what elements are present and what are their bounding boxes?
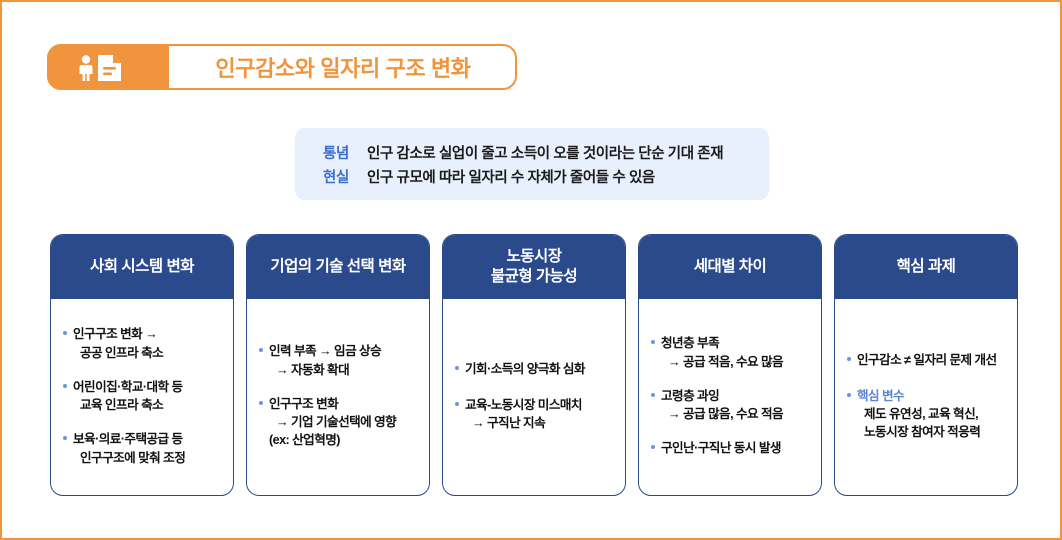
card-title-2-line1: 기업의 기술 선택 변화 [270,257,405,277]
card-corporate-tech-choice-change[interactable]: 기업의 기술 선택 변화 인력 부족 → 임금 상승 → 자동화 확대 인구구조… [246,234,430,496]
bullet-line: 구인난·구직난 동시 발생 [661,439,810,457]
note-row-hyeonsil: 현실 인구 규모에 따라 일자리 수 자체가 줄어들 수 있음 [323,166,769,190]
bullet-item: 인구감소 ≠ 일자리 문제 개선 [846,351,1006,369]
bullet-line: → 공급 많음, 수요 적음 [661,405,810,423]
header: 인구감소와 일자리 구조 변화 [47,44,517,90]
page-title: 인구감소와 일자리 구조 변화 [169,44,517,90]
note-row-tongnyeom: 통념 인구 감소로 실업이 줄고 소득이 오를 것이라는 단순 기대 존재 [323,142,769,166]
card-title-4: 세대별 차이 [639,235,821,299]
card-key-tasks[interactable]: 핵심 과제 인구감소 ≠ 일자리 문제 개선 핵심 변수 제도 유연성, 교육 … [834,234,1018,496]
card-title-3-line1: 노동시장 [491,247,577,267]
card-title-5-line1: 핵심 과제 [897,257,956,277]
card-body-5: 인구감소 ≠ 일자리 문제 개선 핵심 변수 제도 유연성, 교육 혁신, 노동… [835,299,1017,495]
bullet-item: 구인난·구직난 동시 발생 [650,439,810,457]
bullet-item: 기회·소득의 양극화 심화 [454,360,614,378]
bullet-item: 인력 부족 → 임금 상승 → 자동화 확대 [258,342,418,379]
bullet-item: 보육·의료·주택공급 등 인구구조에 맞춰 조정 [62,430,222,467]
bullet-line: 인구구조 변화 [269,395,418,413]
card-title-3-line2: 불균형 가능성 [491,267,577,287]
card-title-2: 기업의 기술 선택 변화 [247,235,429,299]
card-body-2: 인력 부족 → 임금 상승 → 자동화 확대 인구구조 변화 → 기업 기술선택… [247,299,429,495]
bullet-item-key-variable: 핵심 변수 제도 유연성, 교육 혁신, 노동시장 참여자 적응력 [846,387,1006,442]
note-text-hyeonsil: 인구 규모에 따라 일자리 수 자체가 줄어들 수 있음 [367,166,655,187]
card-title-4-line1: 세대별 차이 [694,257,767,277]
note-label-tongnyeom: 통념 [323,142,367,163]
bullet-item: 고령층 과잉 → 공급 많음, 수요 적음 [650,387,810,424]
card-body-4: 청년층 부족 → 공급 적음, 수요 많음 고령층 과잉 → 공급 많음, 수요… [639,299,821,495]
bullet-line: 보육·의료·주택공급 등 [73,430,222,448]
card-labor-market-imbalance[interactable]: 노동시장 불균형 가능성 기회·소득의 양극화 심화 교육-노동시장 미스매치 … [442,234,626,496]
bullet-line: 고령층 과잉 [661,387,810,405]
bullet-line: 인력 부족 → 임금 상승 [269,342,418,360]
bullet-line: 어린이집·학교·대학 등 [73,378,222,396]
person-document-icon [73,54,131,82]
card-title-5: 핵심 과제 [835,235,1017,299]
summary-note-box: 통념 인구 감소로 실업이 줄고 소득이 오를 것이라는 단순 기대 존재 현실… [295,128,769,200]
bullet-item: 청년층 부족 → 공급 적음, 수요 많음 [650,334,810,371]
card-title-1-line1: 사회 시스템 변화 [90,257,194,277]
bullet-line: → 기업 기술선택에 영향 [269,413,418,431]
bullet-line: 인구감소 ≠ 일자리 문제 개선 [857,351,1006,369]
bullet-line: 인구구조 변화 → [73,325,222,343]
bullet-item: 인구구조 변화 → 공공 인프라 축소 [62,325,222,362]
bullet-line-highlight: 핵심 변수 [857,387,1006,405]
bullet-line: → 공급 적음, 수요 많음 [661,353,810,371]
bullet-item: 교육-노동시장 미스매치 → 구직난 지속 [454,396,614,433]
bullet-line: 인구구조에 맞춰 조정 [73,449,222,467]
bullet-line: (ex: 산업혁명) [269,431,418,449]
bullet-line: 교육-노동시장 미스매치 [465,396,614,414]
bullet-line: 노동시장 참여자 적응력 [857,423,1006,441]
note-label-hyeonsil: 현실 [323,166,367,187]
bullet-line: → 구직난 지속 [465,414,614,432]
bullet-line: → 자동화 확대 [269,361,418,379]
bullet-item: 인구구조 변화 → 기업 기술선택에 영향 (ex: 산업혁명) [258,395,418,450]
bullet-line: 제도 유연성, 교육 혁신, [857,405,1006,423]
bullet-line: 기회·소득의 양극화 심화 [465,360,614,378]
card-row: 사회 시스템 변화 인구구조 변화 → 공공 인프라 축소 어린이집·학교·대학… [50,234,1020,496]
card-generational-difference[interactable]: 세대별 차이 청년층 부족 → 공급 적음, 수요 많음 고령층 과잉 → 공급… [638,234,822,496]
bullet-line: 교육 인프라 축소 [73,396,222,414]
infographic-page: 인구감소와 일자리 구조 변화 통념 인구 감소로 실업이 줄고 소득이 오를 … [0,0,1062,540]
bullet-line: 청년층 부족 [661,334,810,352]
card-social-system-change[interactable]: 사회 시스템 변화 인구구조 변화 → 공공 인프라 축소 어린이집·학교·대학… [50,234,234,496]
card-body-1: 인구구조 변화 → 공공 인프라 축소 어린이집·학교·대학 등 교육 인프라 … [51,299,233,495]
note-text-tongnyeom: 인구 감소로 실업이 줄고 소득이 오를 것이라는 단순 기대 존재 [367,142,723,163]
card-body-3: 기회·소득의 양극화 심화 교육-노동시장 미스매치 → 구직난 지속 [443,299,625,495]
card-title-1: 사회 시스템 변화 [51,235,233,299]
card-title-3: 노동시장 불균형 가능성 [443,235,625,299]
bullet-item: 어린이집·학교·대학 등 교육 인프라 축소 [62,378,222,415]
bullet-line: 공공 인프라 축소 [73,344,222,362]
